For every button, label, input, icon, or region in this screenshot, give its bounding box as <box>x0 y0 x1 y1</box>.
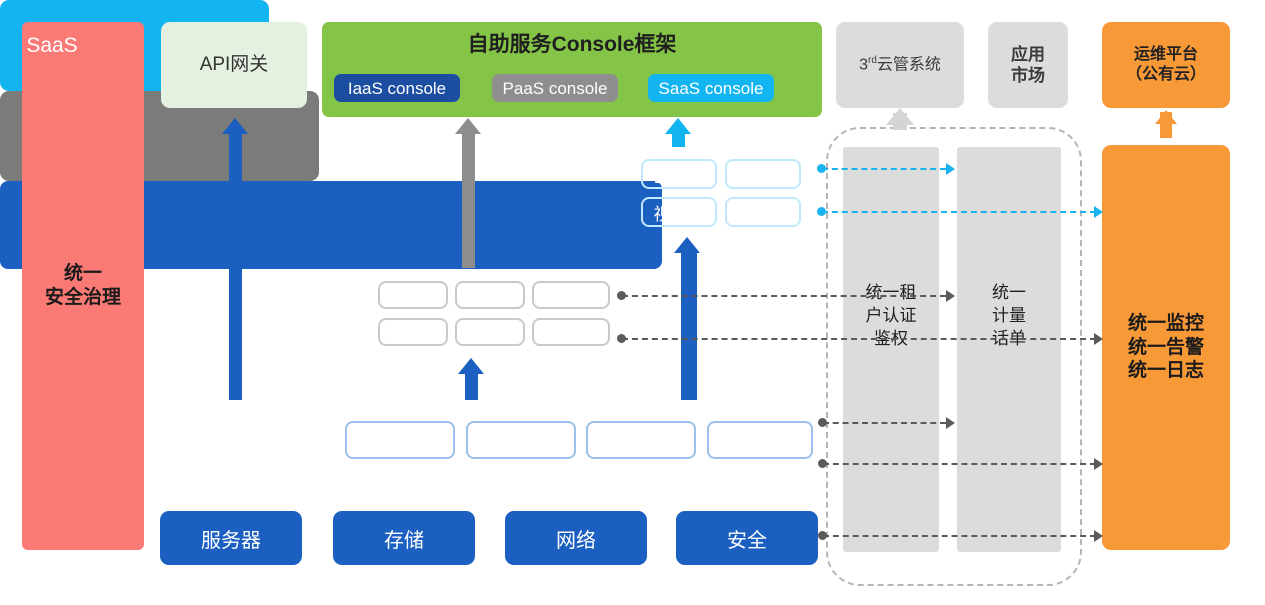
paas-to-ops-arrowhead <box>1094 333 1103 345</box>
infra-service-storage[interactable]: Storage <box>466 421 576 459</box>
architecture-diagram: 统一 安全治理 API网关 自助服务Console框架 IaaS console… <box>0 0 1265 605</box>
hardware-storage-box[interactable]: 存储 <box>333 511 475 565</box>
saas-service-video-cloud[interactable]: 视频云 <box>641 197 717 227</box>
unified-tenant-auth-label: 统一租 户认证 鉴权 <box>838 282 944 351</box>
ops-platform-box[interactable]: 运维平台 （公有云） <box>1102 22 1230 108</box>
paas-service-dgc[interactable]: DGC <box>455 281 525 309</box>
paas-to-auth-arrowhead <box>946 290 955 302</box>
saas-service-blockchain[interactable]: 区块链 <box>641 159 717 189</box>
paas-service-database[interactable]: 数据库 <box>378 318 448 346</box>
paas-service-bigdata[interactable]: 大数据 <box>532 318 610 346</box>
infra-service-network[interactable]: Network <box>586 421 696 459</box>
api-gateway-label: API网关 <box>200 53 269 77</box>
arrow-paas-to-console-stem <box>462 134 475 268</box>
arrow-saas-to-console-head <box>665 118 691 134</box>
saas-to-ops-line <box>822 211 1096 213</box>
hardware-server-box[interactable]: 服务器 <box>160 511 302 565</box>
paas-console-label: PaaS console <box>503 80 608 97</box>
third-party-superscript: rd <box>868 55 877 66</box>
paas-layer-label: PaaS <box>308 300 378 324</box>
hardware-to-ops-arrowhead <box>1094 530 1103 542</box>
paas-service-cache[interactable]: 缓存 <box>455 318 525 346</box>
saas-to-ops-arrowhead <box>1094 206 1103 218</box>
third-party-cloud-mgmt-box[interactable]: 3rd云管系统 <box>836 22 964 108</box>
saas-to-auth-line <box>822 168 946 170</box>
unified-infrastructure-label: 统一基础设施服务 <box>170 427 340 456</box>
hardware-security-box[interactable]: 安全 <box>676 511 818 565</box>
arrow-saas-to-console-stem <box>672 134 685 147</box>
paas-service-modelarts[interactable]: ModelArts <box>532 281 610 309</box>
unified-monitoring-panel[interactable]: 统一监控 统一告警 统一日志 <box>1102 145 1230 550</box>
unified-metering-label: 统一 计量 话单 <box>957 282 1061 351</box>
unified-monitoring-label: 统一监控 统一告警 统一日志 <box>1128 312 1204 383</box>
saas-service-desktop-cloud[interactable]: 桌面云 <box>725 197 801 227</box>
infra-to-ops-line <box>823 463 1096 465</box>
paas-to-auth-line <box>622 295 946 297</box>
hardware-to-ops-line <box>823 535 1096 537</box>
arrow-infra-to-apigw-head <box>222 118 248 134</box>
saas-layer-label: SaaS <box>12 34 92 58</box>
app-market-label: 应用 市场 <box>1011 44 1045 87</box>
third-party-label: 3rd云管系统 <box>859 55 941 75</box>
paas-console-chip[interactable]: PaaS console <box>492 74 618 102</box>
saas-service-iot[interactable]: IoT <box>725 159 801 189</box>
infra-service-compute[interactable]: Compute <box>345 421 455 459</box>
infra-to-auth-arrowhead <box>946 417 955 429</box>
saas-console-label: SaaS console <box>659 80 764 97</box>
security-panel-label: 统一 安全治理 <box>45 262 121 310</box>
arrow-infra-to-apigw-stem <box>229 134 242 400</box>
iaas-console-label: IaaS console <box>348 80 446 97</box>
paas-service-roma[interactable]: ROMA <box>378 281 448 309</box>
arrow-shared-to-third-head <box>886 108 914 125</box>
infra-to-ops-arrowhead <box>1094 458 1103 470</box>
infra-service-cce[interactable]: CCE <box>707 421 813 459</box>
saas-console-chip[interactable]: SaaS console <box>648 74 774 102</box>
ops-platform-label: 运维平台 （公有云） <box>1126 45 1206 85</box>
infra-to-auth-line <box>823 422 946 424</box>
self-service-console-frame[interactable]: 自助服务Console框架 <box>322 22 822 117</box>
paas-to-ops-line <box>622 338 1096 340</box>
arrow-infra-to-saas-head <box>674 237 700 253</box>
arrow-infra-to-paas-head <box>458 358 484 374</box>
hardware-network-box[interactable]: 网络 <box>505 511 647 565</box>
saas-to-auth-arrowhead <box>946 163 955 175</box>
unified-security-governance-panel[interactable]: 统一 安全治理 <box>22 22 144 550</box>
iaas-console-chip[interactable]: IaaS console <box>334 74 460 102</box>
arrow-infra-to-paas-stem <box>465 374 478 400</box>
console-frame-title: 自助服务Console框架 <box>322 32 822 58</box>
arrow-paas-to-console-head <box>455 118 481 134</box>
app-market-box[interactable]: 应用 市场 <box>988 22 1068 108</box>
arrow-infra-to-saas-stem <box>681 253 697 400</box>
api-gateway-box[interactable]: API网关 <box>161 22 307 108</box>
arrow-shared-to-ops-head <box>1155 110 1177 124</box>
